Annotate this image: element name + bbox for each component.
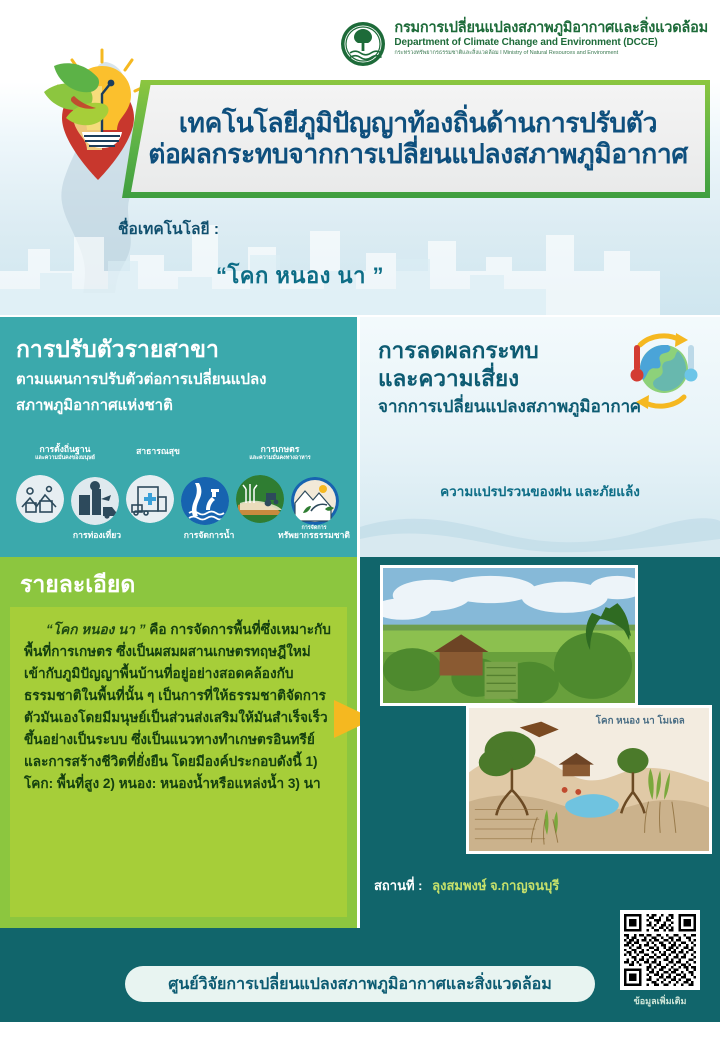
detail-body: คือ การจัดการพื้นที่ซึ่งเหมาะกับพื้นที่ก… (24, 622, 331, 791)
research-center-pill: ศูนย์วิจัยการเปลี่ยนแปลงสภาพภูมิอากาศและ… (125, 966, 595, 1002)
poster-root: กรมการเปลี่ยนแปลงสภาพภูมิอากาศและสิ่งแวด… (0, 0, 720, 1040)
agriculture-label: การเกษตร และความมั่นคงทางอาหาร (220, 445, 340, 461)
svg-text:โคก หนอง นา โมเดล: โคก หนอง นา โมเดล (595, 715, 685, 727)
research-center-name: ศูนย์วิจัยการเปลี่ยนแปลงสภาพภูมิอากาศและ… (168, 972, 552, 997)
detail-paragraph: “โคก หนอง นา ” คือ การจัดการพื้นที่ซึ่งเ… (24, 619, 335, 795)
mitigation-note: ความแปรปรวนของฝน และภัยแล้ง (360, 480, 720, 502)
settlement-label: การตั้งถิ่นฐาน และความมั่นคงของมนุษย์ (4, 445, 126, 461)
natural-resources-label: การจัดการ ทรัพยากรธรรมชาติ (260, 525, 368, 541)
technology-label: ชื่อเทคโนโลยี : (118, 216, 219, 241)
public-health-icon (126, 475, 174, 523)
adaptation-sectors-panel: การปรับตัวรายสาขา ตามแผนการปรับตัวต่อการ… (0, 317, 357, 557)
public-health-label: สาธารณสุข (113, 447, 203, 457)
qr-block[interactable]: ข้อมูลเพิ่มเติม (614, 910, 706, 1022)
qr-caption: ข้อมูลเพิ่มเติม (634, 994, 687, 1008)
dcce-logo-block: กรมการเปลี่ยนแปลงสภาพภูมิอากาศและสิ่งแวด… (340, 20, 708, 67)
top-banner: กรมการเปลี่ยนแปลงสภาพภูมิอากาศและสิ่งแวด… (0, 0, 720, 315)
title-ribbon: เทคโนโลยีภูมิปัญญาท้องถิ่นด้านการปรับตัว… (131, 85, 705, 192)
water-management-label: การจัดการน้ำ (163, 531, 255, 541)
dcce-seal-icon (340, 21, 386, 67)
detail-text-box: “โคก หนอง นา ” คือ การจัดการพื้นที่ซึ่งเ… (10, 607, 347, 917)
sectors-subheading-line1: ตามแผนการปรับตัวต่อการเปลี่ยนแปลง (16, 369, 343, 390)
mitigation-panel: การลดผลกระทบ และความเสี่ยง จากการเปลี่ยน… (360, 317, 720, 557)
location-label: สถานที่ : (374, 878, 423, 893)
water-management-icon (181, 477, 229, 525)
location-value: ลุงสมพงษ์ จ.กาญจนบุรี (432, 878, 559, 893)
media-panel: โคก หนอง นา โมเดล สถานที่ : ลุงสมพงษ์ จ.… (360, 557, 720, 928)
tourism-label: การท่องเที่ยว (52, 531, 142, 541)
detail-panel: รายละเอียด “โคก หนอง นา ” คือ การจัดการพ… (0, 557, 357, 928)
natural-resources-icon (291, 477, 339, 525)
settlement-icon (16, 475, 64, 523)
globe-thermometer-icon (618, 327, 706, 415)
sector-icon-row: การตั้งถิ่นฐาน และความมั่นคงของมนุษย์ กา… (8, 445, 353, 553)
poster-title-line2: ต่อผลกระทบจากการเปลี่ยนแปลงสภาพภูมิอากาศ (148, 139, 688, 170)
tourism-icon (71, 477, 119, 525)
agriculture-icon (236, 475, 284, 523)
bottom-white-strip (0, 1022, 720, 1040)
technology-name: “โคก หนอง นา ” (0, 258, 600, 293)
dcce-ministry: กระทรวงทรัพยากรธรรมชาติและสิ่งแวดล้อม I … (394, 50, 708, 56)
sectors-subheading-line2: สภาพภูมิอากาศแห่งชาติ (16, 395, 343, 416)
location-row: สถานที่ : ลุงสมพงษ์ จ.กาญจนบุรี (374, 875, 559, 896)
sectors-heading: การปรับตัวรายสาขา (16, 335, 343, 364)
dcce-org-en: Department of Climate Change and Environ… (394, 37, 708, 48)
dcce-org-th: กรมการเปลี่ยนแปลงสภาพภูมิอากาศและสิ่งแวด… (394, 20, 708, 36)
khok-nong-na-model-diagram: โคก หนอง นา โมเดล (466, 705, 712, 854)
detail-title: รายละเอียด (20, 567, 135, 603)
detail-quote: “โคก หนอง นา ” (46, 622, 146, 637)
farm-landscape-photo (380, 565, 638, 706)
poster-title-line1: เทคโนโลยีภูมิปัญญาท้องถิ่นด้านการปรับตัว (179, 108, 657, 139)
qr-code[interactable] (620, 910, 700, 990)
